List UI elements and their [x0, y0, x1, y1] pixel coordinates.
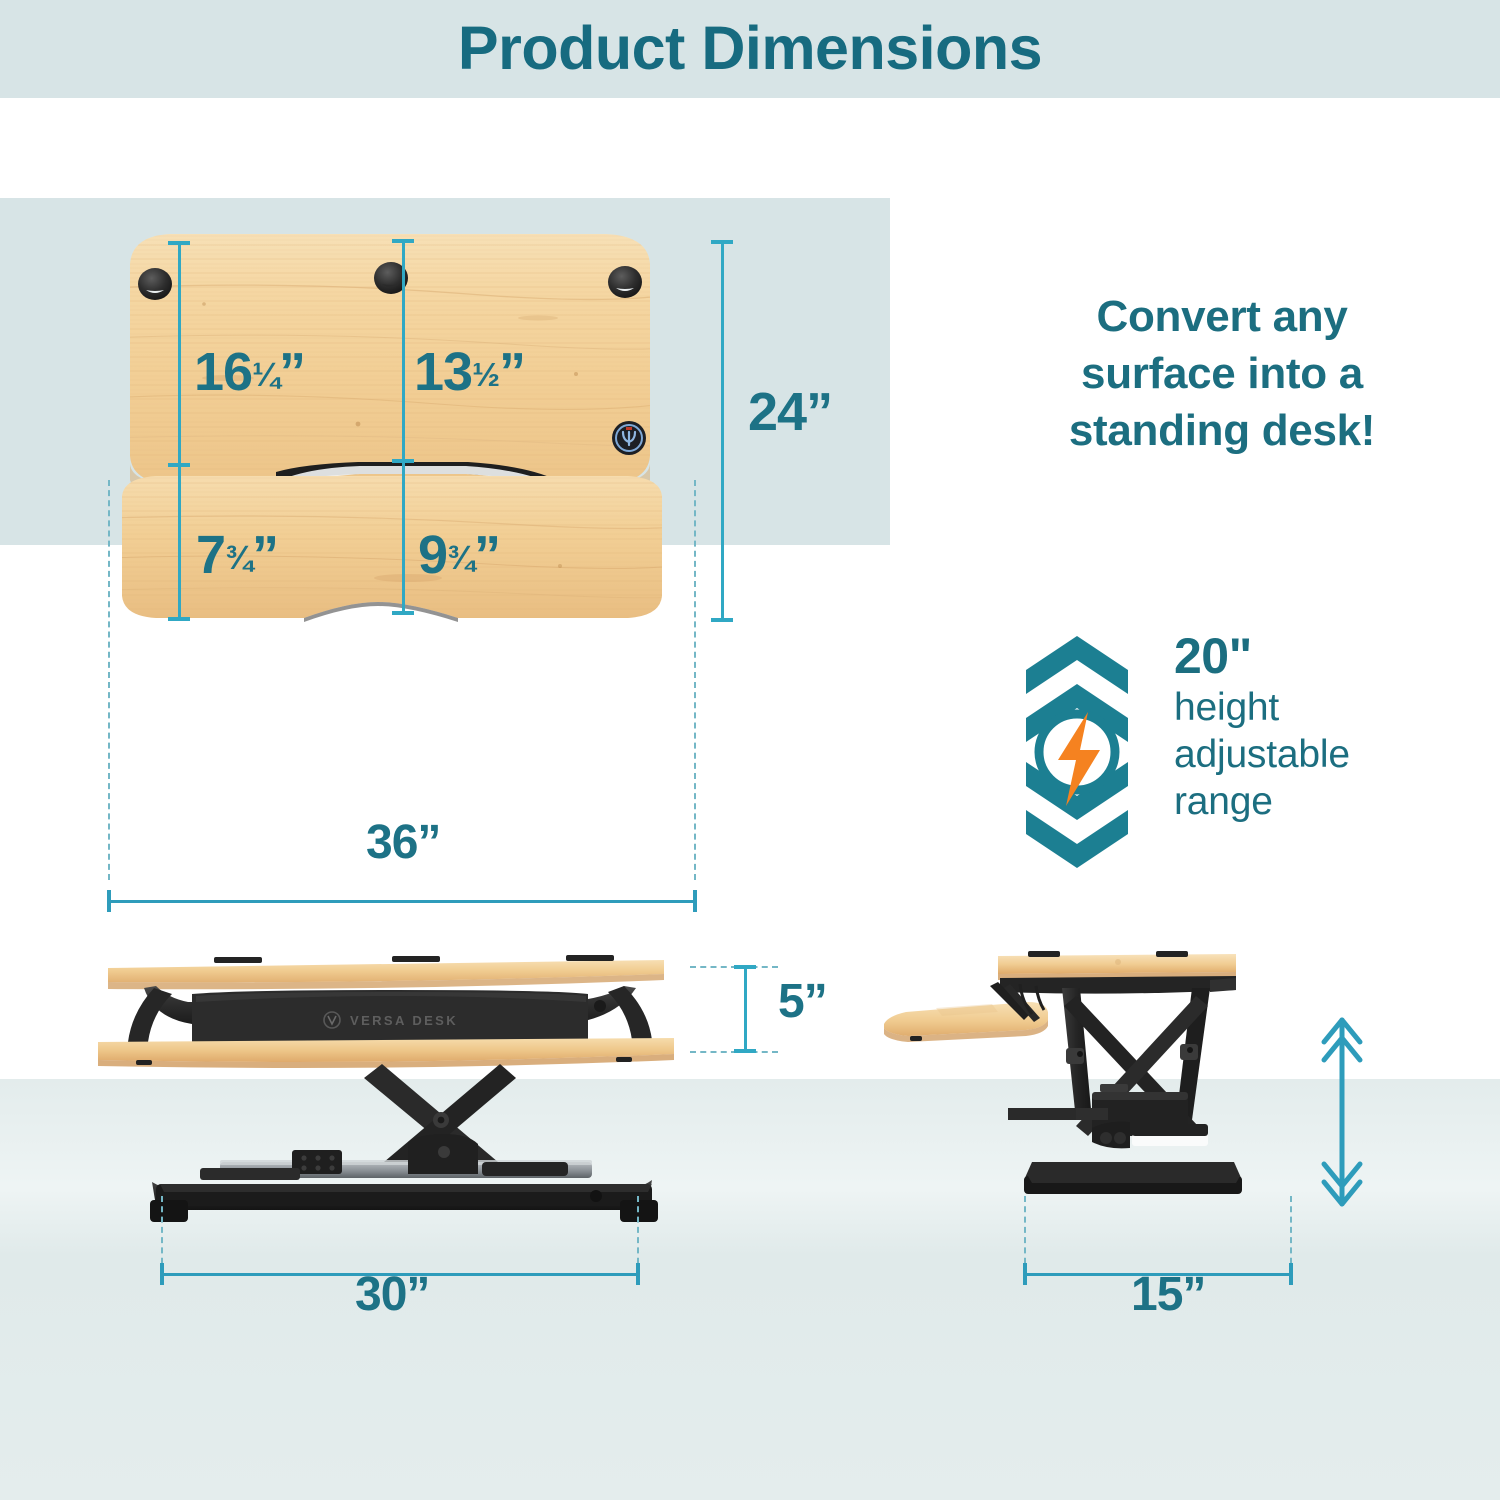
dim-label-36: 36” — [366, 819, 440, 867]
fraction: ½ — [472, 359, 499, 392]
dim-line-9-three-quarter — [402, 463, 405, 613]
dim-line-5 — [744, 967, 747, 1051]
fraction: ¾ — [447, 542, 474, 575]
desk-side-view-illustration — [880, 940, 1310, 1252]
svg-text:VERSA DESK: VERSA DESK — [350, 1013, 458, 1028]
dim-cap — [636, 1263, 640, 1285]
dim-cap — [1289, 1263, 1293, 1285]
dim-label-5: 5” — [778, 978, 827, 1026]
brand-badge-icon — [612, 421, 646, 455]
height-range-line-3: range — [1174, 778, 1444, 825]
dim-cap — [734, 1049, 756, 1053]
height-adjustable-lightning-icon — [1022, 632, 1132, 872]
infographic-canvas: Product Dimensions Convert any surface i… — [0, 0, 1500, 1500]
dim-label-13-half: 13½” — [414, 345, 525, 399]
dim-cap — [711, 618, 733, 622]
dim-line-36 — [108, 900, 695, 903]
dim-cap — [693, 890, 697, 912]
page-title: Product Dimensions — [0, 6, 1500, 90]
dim-line-16-quarter — [178, 243, 181, 467]
dim-line-24 — [721, 242, 724, 620]
fraction: ¾ — [225, 542, 252, 575]
dim-label-9-three-quarter: 9¾” — [418, 528, 500, 582]
height-adjustable-feature: 20" height adjustable range — [1022, 632, 1442, 882]
dim-label-16-quarter: 16¼” — [194, 345, 305, 399]
tagline-line-2: surface into a — [1012, 345, 1432, 402]
tagline-line-1: Convert any — [1012, 288, 1432, 345]
dim-label-15: 15” — [1131, 1271, 1205, 1319]
fraction: ¼ — [252, 359, 279, 392]
dim-label-30: 30” — [355, 1271, 429, 1319]
dim-cap — [392, 611, 414, 615]
dim-label-7-three-quarter: 7¾” — [196, 528, 278, 582]
dim-label-24: 24” — [748, 385, 832, 439]
grommet-icon — [608, 266, 642, 298]
height-range-value: 20" — [1174, 628, 1444, 684]
height-range-line-1: height — [1174, 684, 1444, 731]
height-range-arrow-icon — [1310, 1008, 1374, 1216]
dim-cap — [168, 617, 190, 621]
dim-line-13-half — [402, 241, 405, 463]
extension-line-left — [108, 480, 110, 880]
extension-line-right — [694, 480, 696, 880]
tagline: Convert any surface into a standing desk… — [1012, 288, 1432, 459]
desk-front-view-illustration: VERSA DESK — [96, 946, 676, 1246]
height-range-line-2: adjustable — [1174, 731, 1444, 778]
dim-line-7-three-quarter — [178, 467, 181, 619]
grommet-icon — [138, 268, 172, 300]
height-adjustable-text: 20" height adjustable range — [1174, 628, 1444, 825]
tagline-line-3: standing desk! — [1012, 402, 1432, 459]
